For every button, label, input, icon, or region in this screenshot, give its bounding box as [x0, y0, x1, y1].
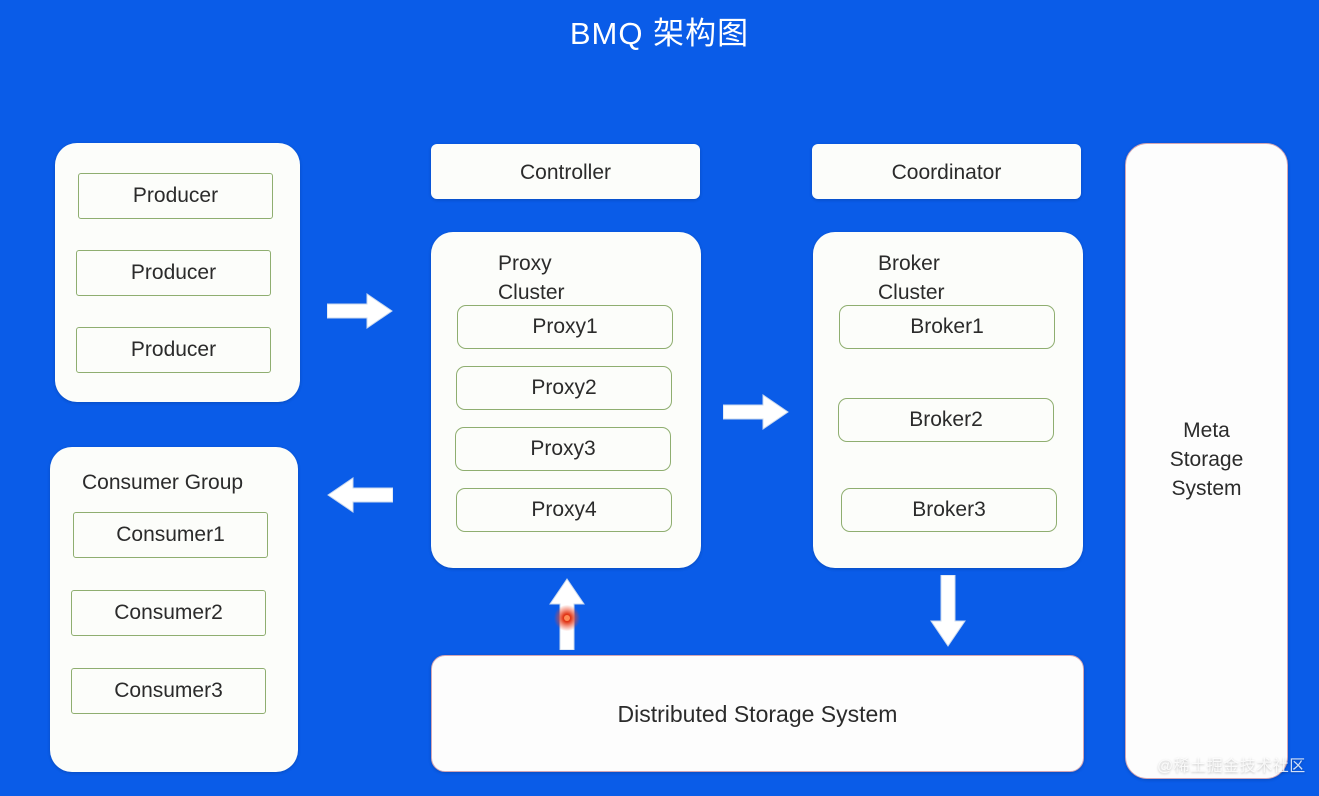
controller-label: Controller	[431, 158, 700, 187]
consumer-node-3[interactable]: Consumer3	[71, 668, 266, 714]
producer-node-2[interactable]: Producer	[76, 250, 271, 296]
producer-node-1[interactable]: Producer	[78, 173, 273, 219]
distributed-storage-label: Distributed Storage System	[432, 700, 1083, 729]
arrow-broker-to-storage	[930, 575, 966, 647]
coordinator-box[interactable]: Coordinator	[812, 144, 1081, 199]
consumer-node-1-label: Consumer1	[116, 523, 225, 547]
page-title: BMQ 架构图	[0, 8, 1319, 53]
consumer-group-label: Consumer Group	[82, 468, 282, 497]
consumer-node-2-label: Consumer2	[114, 601, 223, 625]
arrow-proxy-to-consumer	[327, 477, 393, 513]
broker-node-3[interactable]: Broker3	[841, 488, 1057, 532]
proxy-node-2[interactable]: Proxy2	[456, 366, 672, 410]
proxy-node-4[interactable]: Proxy4	[456, 488, 672, 532]
coordinator-label: Coordinator	[812, 158, 1081, 187]
proxy-node-3-label: Proxy3	[530, 437, 595, 461]
producer-node-1-label: Producer	[133, 184, 218, 208]
distributed-storage-box[interactable]: Distributed Storage System	[431, 655, 1084, 772]
meta-storage-label: Meta Storage System	[1126, 416, 1287, 503]
broker-node-1-label: Broker1	[910, 315, 984, 339]
producer-node-3[interactable]: Producer	[76, 327, 271, 373]
proxy-node-2-label: Proxy2	[531, 376, 596, 400]
producer-node-2-label: Producer	[131, 261, 216, 285]
proxy-node-1[interactable]: Proxy1	[457, 305, 673, 349]
broker-node-3-label: Broker3	[912, 498, 986, 522]
diagram-canvas: BMQ 架构图 Producer Producer Producer Consu…	[0, 0, 1319, 796]
broker-node-2-label: Broker2	[909, 408, 983, 432]
controller-box[interactable]: Controller	[431, 144, 700, 199]
consumer-node-2[interactable]: Consumer2	[71, 590, 266, 636]
arrow-proxy-to-broker	[723, 394, 789, 430]
meta-storage-box[interactable]: Meta Storage System	[1125, 143, 1288, 779]
watermark-label: @稀土掘金技术社区	[1157, 752, 1306, 776]
proxy-node-4-label: Proxy4	[531, 498, 596, 522]
proxy-node-1-label: Proxy1	[532, 315, 597, 339]
broker-cluster-label: Broker Cluster	[878, 249, 1058, 307]
consumer-node-3-label: Consumer3	[114, 679, 223, 703]
consumer-node-1[interactable]: Consumer1	[73, 512, 268, 558]
arrow-producer-to-proxy	[327, 293, 393, 329]
broker-node-2[interactable]: Broker2	[838, 398, 1054, 442]
broker-node-1[interactable]: Broker1	[839, 305, 1055, 349]
arrow-storage-to-proxy	[549, 578, 585, 650]
proxy-cluster-label: Proxy Cluster	[498, 249, 678, 307]
proxy-node-3[interactable]: Proxy3	[455, 427, 671, 471]
producer-node-3-label: Producer	[131, 338, 216, 362]
